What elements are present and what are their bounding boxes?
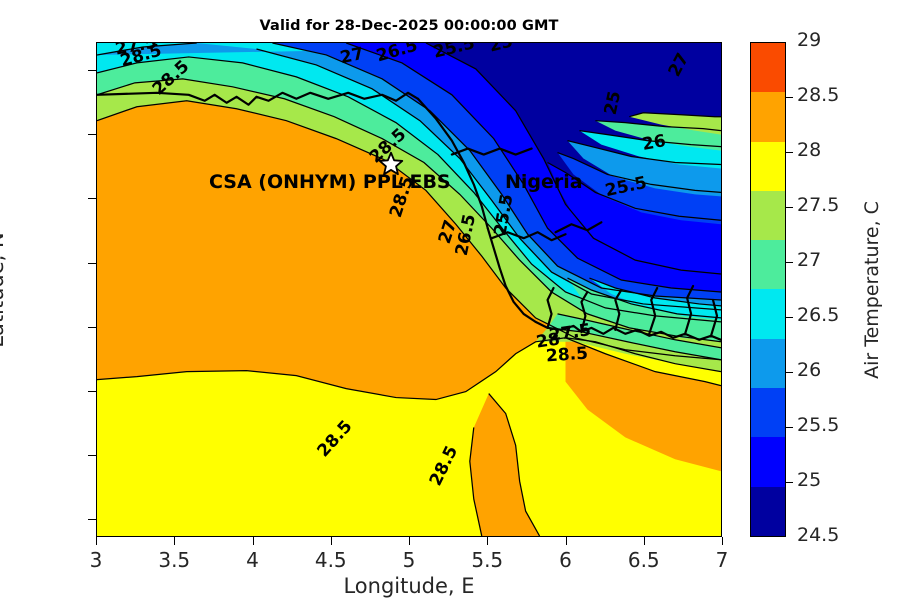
colorbar-label: Air Temperature, C: [861, 201, 883, 379]
x-tick-4.5: [331, 537, 332, 545]
colorbar-tick-26: [786, 372, 793, 373]
y-tick-3: [88, 519, 96, 520]
y-tick-6.5: [88, 70, 96, 71]
x-tick-3.5: [174, 537, 175, 545]
y-tick-5: [88, 263, 96, 264]
x-tick-4: [253, 537, 254, 545]
x-tick-7: [722, 537, 723, 545]
y-tick-6: [88, 134, 96, 135]
colorbar-tick-28.5: [786, 97, 793, 98]
y-tick-3.5: [88, 455, 96, 456]
colorbar-band: [751, 339, 785, 388]
colorbar[interactable]: [750, 42, 786, 537]
colorbar-tick-label-24.5: 24.5: [797, 524, 839, 546]
colorbar-tick-label-27.5: 27.5: [797, 194, 839, 216]
x-tick-6: [566, 537, 567, 545]
colorbar-band: [751, 191, 785, 240]
x-tick-5: [409, 537, 410, 545]
contour-field: [97, 43, 721, 536]
y-tick-5.5: [88, 198, 96, 199]
y-tick-4.5: [88, 327, 96, 328]
x-tick-5.5: [487, 537, 488, 545]
colorbar-tick-25: [786, 482, 793, 483]
colorbar-tick-28: [786, 152, 793, 153]
colorbar-tick-25.5: [786, 427, 793, 428]
colorbar-tick-27.5: [786, 207, 793, 208]
x-tick-3: [96, 537, 97, 545]
contour-plot-area[interactable]: 28.527.528.52726.525.52527252625.528.528…: [96, 42, 722, 537]
x-tick-6.5: [644, 537, 645, 545]
y-tick-4: [88, 391, 96, 392]
colorbar-band: [751, 142, 785, 191]
x-axis-label: Longitude, E: [343, 574, 474, 598]
colorbar-tick-label-28: 28: [797, 139, 821, 161]
colorbar-tick-label-25.5: 25.5: [797, 414, 839, 436]
colorbar-tick-label-26.5: 26.5: [797, 304, 839, 326]
colorbar-band: [751, 289, 785, 338]
colorbar-band: [751, 388, 785, 437]
figure-title: Valid for 28-Dec-2025 00:00:00 GMT: [96, 18, 722, 34]
colorbar-tick-label-29: 29: [797, 29, 821, 51]
colorbar-band: [751, 240, 785, 289]
y-axis-label: Latitude, N: [0, 232, 8, 348]
colorbar-band: [751, 487, 785, 536]
colorbar-tick-label-26: 26: [797, 359, 821, 381]
colorbar-tick-27: [786, 262, 793, 263]
colorbar-band: [751, 437, 785, 486]
colorbar-band: [751, 92, 785, 141]
colorbar-tick-label-27: 27: [797, 249, 821, 271]
colorbar-tick-label-28.5: 28.5: [797, 84, 839, 106]
colorbar-tick-26.5: [786, 317, 793, 318]
colorbar-band: [751, 43, 785, 92]
colorbar-tick-label-25: 25: [797, 469, 821, 491]
figure-canvas: Valid for 28-Dec-2025 00:00:00 GMT: [0, 0, 900, 600]
